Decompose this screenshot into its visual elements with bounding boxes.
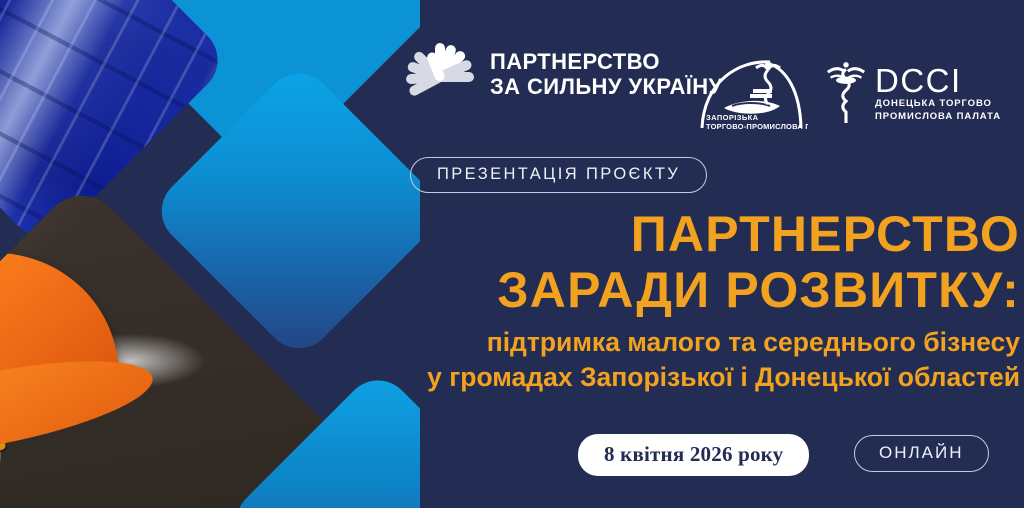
subtitle-line2: у громадах Запорізької і Донецької облас… bbox=[408, 360, 1020, 395]
logo-row: ПАРТНЕРСТВО ЗА СИЛЬНУ УКРАЇНУ bbox=[402, 32, 1002, 132]
zcci-line1: ЗАПОРІЗЬКА bbox=[706, 113, 759, 122]
logo-zaporizhzhia-cci: ЗАПОРІЗЬКА ТОРГОВО-ПРОМИСЛОВА ПАЛАТА bbox=[698, 56, 808, 134]
logo-partnership-for-strong-ukraine: ПАРТНЕРСТВО ЗА СИЛЬНУ УКРАЇНУ bbox=[406, 34, 723, 114]
dcci-logo-text: DCCI ДОНЕЦЬКА ТОРГОВО ПРОМИСЛОВА ПАЛАТА bbox=[875, 64, 1001, 123]
page-subtitle: підтримка малого та середнього бізнесу у… bbox=[408, 325, 1020, 395]
dcci-line1: ДОНЕЦЬКА ТОРГОВО bbox=[875, 97, 1001, 110]
partnership-logo-line1: ПАРТНЕРСТВО bbox=[490, 49, 723, 74]
caduceus-arch-icon: ЗАПОРІЗЬКА ТОРГОВО-ПРОМИСЛОВА ПАЛАТА bbox=[698, 56, 808, 134]
event-banner: ПАРТНЕРСТВО ЗА СИЛЬНУ УКРАЇНУ bbox=[0, 0, 1024, 508]
hard-hat-icon bbox=[0, 232, 124, 442]
logo-donetsk-cci: DCCI ДОНЕЦЬКА ТОРГОВО ПРОМИСЛОВА ПАЛАТА bbox=[826, 58, 1001, 128]
caduceus-wings-icon bbox=[826, 58, 866, 128]
headline-line2: ЗАРАДИ РОЗВИТКУ: bbox=[408, 262, 1020, 318]
page-title: ПАРТНЕРСТВО ЗАРАДИ РОЗВИТКУ: bbox=[408, 206, 1020, 318]
banner-content: ПАРТНЕРСТВО ЗА СИЛЬНУ УКРАЇНУ bbox=[396, 0, 1024, 508]
event-date-badge: 8 квітня 2026 року bbox=[578, 434, 809, 476]
decorative-collage bbox=[0, 0, 420, 508]
dcci-abbreviation: DCCI bbox=[875, 64, 1001, 97]
starburst-icon bbox=[406, 34, 480, 114]
subtitle-line1: підтримка малого та середнього бізнесу bbox=[408, 325, 1020, 360]
headline-line1: ПАРТНЕРСТВО bbox=[408, 206, 1020, 262]
dcci-line2: ПРОМИСЛОВА ПАЛАТА bbox=[875, 110, 1001, 123]
presentation-badge: ПРЕЗЕНТАЦІЯ ПРОЄКТУ bbox=[410, 157, 707, 193]
zcci-line2: ТОРГОВО-ПРОМИСЛОВА ПАЛАТА bbox=[706, 122, 808, 131]
partnership-logo-line2: ЗА СИЛЬНУ УКРАЇНУ bbox=[490, 74, 723, 99]
event-format-badge: ОНЛАЙН bbox=[854, 435, 989, 472]
partnership-logo-text: ПАРТНЕРСТВО ЗА СИЛЬНУ УКРАЇНУ bbox=[490, 49, 723, 99]
